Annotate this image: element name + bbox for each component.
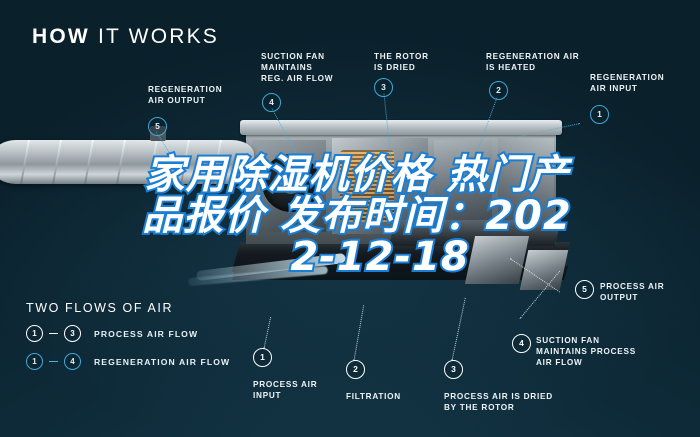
- legend-dash-process: [49, 333, 58, 334]
- page-title-rest: IT WORKS: [90, 25, 219, 48]
- infographic-canvas: HOW IT WORKS REGENERATION AIR OUTPUT 5 S…: [0, 0, 700, 437]
- callout-label-rotor-is-dried: THE ROTOR IS DRIED: [374, 51, 429, 73]
- legend-row-process-air-flow: 1 3 PROCESS AIR FLOW: [26, 325, 198, 342]
- callout-marker-filtration[interactable]: 2: [346, 360, 365, 379]
- callout-label-regeneration-air-input: REGENERATION AIR INPUT: [590, 72, 664, 94]
- callout-label-suction-fan-process: SUCTION FAN MAINTAINS PROCESS AIR FLOW: [536, 335, 636, 368]
- callout-marker-regeneration-air-input[interactable]: 1: [590, 105, 609, 124]
- legend-marker-process-from: 1: [26, 325, 43, 342]
- legend-marker-process-to: 3: [64, 325, 81, 342]
- legend-row-regeneration-air-flow: 1 4 REGENERATION AIR FLOW: [26, 353, 230, 370]
- callout-marker-suction-fan-reg[interactable]: 4: [262, 93, 281, 112]
- callout-label-filtration: FILTRATION: [346, 391, 401, 402]
- machine-fan: [262, 154, 320, 212]
- callout-marker-rotor-is-dried[interactable]: 3: [374, 78, 393, 97]
- legend-label-regeneration-air-flow: REGENERATION AIR FLOW: [94, 357, 230, 367]
- callout-marker-suction-fan-process[interactable]: 4: [512, 334, 531, 353]
- machine-top-cover: [240, 120, 562, 135]
- leader-line-filtration: [354, 305, 365, 360]
- callout-marker-process-air-dried[interactable]: 3: [444, 360, 463, 379]
- legend-dash-regeneration: [49, 361, 58, 362]
- callout-marker-regeneration-air-output[interactable]: 5: [148, 117, 167, 136]
- legend-marker-regeneration-from: 1: [26, 353, 43, 370]
- callout-label-process-air-input: PROCESS AIR INPUT: [253, 379, 317, 401]
- page-title: HOW IT WORKS: [32, 25, 219, 49]
- callout-label-process-air-dried: PROCESS AIR IS DRIED BY THE ROTOR: [444, 391, 553, 413]
- callout-marker-process-air-input[interactable]: 1: [253, 348, 272, 367]
- callout-marker-regeneration-air-heated[interactable]: 2: [489, 81, 508, 100]
- callout-label-process-air-output: PROCESS AIR OUTPUT: [600, 281, 664, 303]
- legend-label-process-air-flow: PROCESS AIR FLOW: [94, 329, 198, 339]
- legend-marker-regeneration-to: 4: [64, 353, 81, 370]
- callout-label-suction-fan-reg: SUCTION FAN MAINTAINS REG. AIR FLOW: [261, 51, 333, 84]
- callout-label-regeneration-air-heated: REGENERATION AIR IS HEATED: [486, 51, 579, 73]
- callout-marker-process-air-output[interactable]: 5: [575, 280, 594, 299]
- machine-detail-block-1: [465, 236, 529, 284]
- air-duct: [0, 140, 254, 184]
- callout-label-regeneration-air-output: REGENERATION AIR OUTPUT: [148, 84, 222, 106]
- leader-line-process-input: [264, 317, 272, 349]
- page-title-bold: HOW: [32, 25, 90, 48]
- legend-title: TWO FLOWS OF AIR: [26, 301, 173, 315]
- machine-desiccant-rotor: [340, 150, 394, 222]
